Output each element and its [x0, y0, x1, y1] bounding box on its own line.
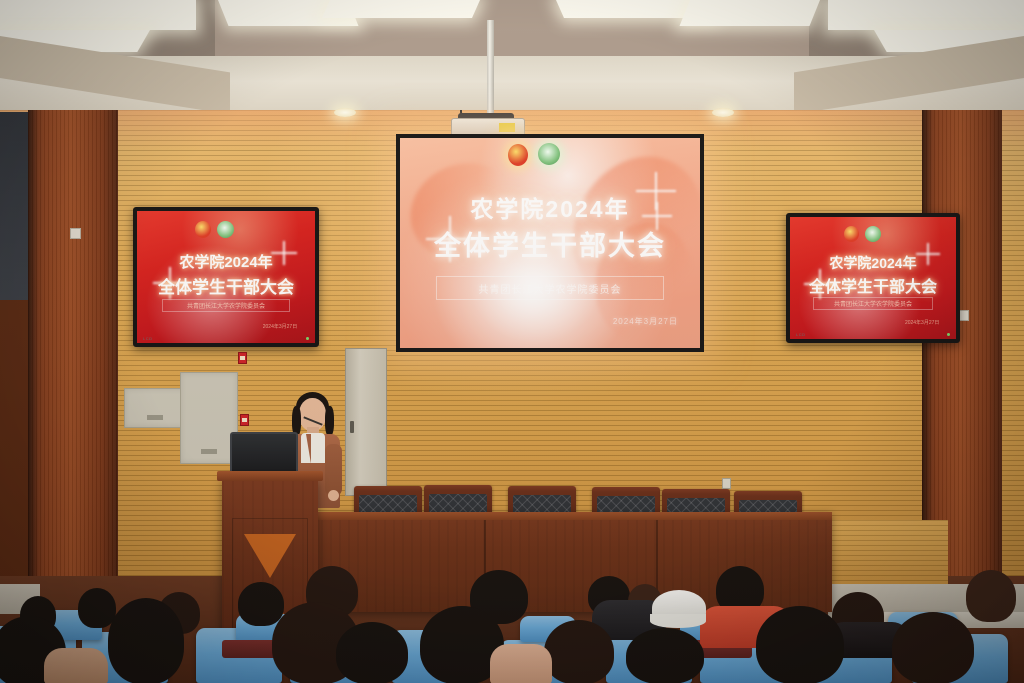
- podium-laptop-screen[interactable]: [230, 432, 298, 476]
- monitor-left-subtitle: 共青团长江大学农学院委员会: [162, 299, 290, 312]
- monitor-right-subtitle: 共青团长江大学农学院委员会: [813, 297, 933, 310]
- monitor-left-date: 2024年3月27日: [263, 323, 297, 330]
- audience-head-front: [892, 612, 974, 683]
- monitor-brand-label: LCD: [796, 332, 806, 337]
- slide-date: 2024年3月27日: [613, 316, 678, 327]
- audience-head: [238, 582, 284, 626]
- auditorium-scene: 农学院2024年 全体学生干部大会 共青团长江大学农学院委员会 2024年3月2…: [0, 0, 1024, 683]
- table-top-edge: [312, 512, 832, 520]
- projection-screen: 农学院2024年 全体学生干部大会 共青团长江大学农学院委员会 2024年3月2…: [396, 134, 704, 352]
- presenter-lapel: [297, 434, 311, 464]
- university-logo-icon: [865, 226, 881, 242]
- audience-shoulders-front: [44, 648, 108, 683]
- light-switch[interactable]: [70, 228, 81, 239]
- monitor-right-title-line1: 农学院2024年: [790, 253, 956, 273]
- wall-access-door[interactable]: [345, 348, 387, 496]
- university-logo-icon: [538, 143, 560, 165]
- cabinet-label: [147, 415, 163, 420]
- slide-title-line1: 农学院2024年: [400, 190, 700, 224]
- presenter-hand: [328, 490, 339, 501]
- podium-top-surface: [217, 471, 323, 481]
- audience-head-front: [544, 620, 614, 683]
- monitor-right-date: 2024年3月27日: [905, 319, 939, 326]
- ceiling-light-panel: [679, 0, 820, 26]
- slide-title-line2: 全体学生干部大会: [400, 224, 700, 263]
- ceiling-light-panel: [828, 0, 1024, 30]
- ceiling-light-panel: [0, 0, 196, 30]
- white-cap-brim: [650, 614, 706, 628]
- monitor-left-content: 农学院2024年 全体学生干部大会 共青团长江大学农学院委员会 2024年3月2…: [137, 211, 315, 343]
- cabinet-label: [201, 449, 217, 454]
- monitor-brand-label: LCD: [143, 336, 153, 341]
- audience-head: [78, 588, 116, 628]
- audience-head-front: [626, 628, 704, 683]
- slide-subtitle: 共青团长江大学农学院委员会: [436, 276, 664, 300]
- audience-shoulders-front: [490, 644, 552, 683]
- presenter-arm: [325, 444, 342, 496]
- display-monitor-right: 农学院2024年 全体学生干部大会 共青团长江大学农学院委员会 2024年3月2…: [786, 213, 960, 343]
- wall-outlet[interactable]: [722, 478, 731, 489]
- monitor-left-title-line2: 全体学生干部大会: [137, 273, 315, 298]
- projected-slide: 农学院2024年 全体学生干部大会 共青团长江大学农学院委员会 2024年3月2…: [400, 138, 700, 348]
- presenter-hair-right: [325, 406, 334, 436]
- podium-emblem-triangle-icon: [244, 534, 296, 578]
- audience-head-front: [108, 598, 184, 683]
- communist-youth-league-emblem-icon: [844, 226, 859, 242]
- audience-head: [966, 570, 1016, 622]
- display-monitor-left: 农学院2024年 全体学生干部大会 共青团长江大学农学院委员会 2024年3月2…: [133, 207, 319, 347]
- audience-head-front: [756, 606, 844, 683]
- communist-youth-league-emblem-icon: [508, 144, 528, 166]
- lower-wall-right: [828, 520, 948, 584]
- monitor-right-title-line2: 全体学生干部大会: [790, 273, 956, 297]
- university-logo-icon: [217, 221, 234, 238]
- audience-head-front: [336, 622, 408, 683]
- fire-alarm-icon[interactable]: [238, 352, 247, 364]
- projector-mount-pole: [487, 20, 494, 124]
- projector-label: [499, 123, 515, 132]
- ceiling-downlight: [334, 108, 356, 117]
- monitor-power-led: [947, 333, 950, 336]
- monitor-right-content: 农学院2024年 全体学生干部大会 共青团长江大学农学院委员会 2024年3月2…: [790, 217, 956, 339]
- communist-youth-league-emblem-icon: [195, 221, 211, 238]
- ceiling-light-panel: [322, 0, 480, 18]
- fire-alarm-icon[interactable]: [240, 414, 249, 426]
- monitor-left-title-line1: 农学院2024年: [137, 251, 315, 272]
- ceiling-downlight: [712, 108, 734, 117]
- monitor-power-led: [306, 337, 309, 340]
- door-handle[interactable]: [350, 421, 354, 433]
